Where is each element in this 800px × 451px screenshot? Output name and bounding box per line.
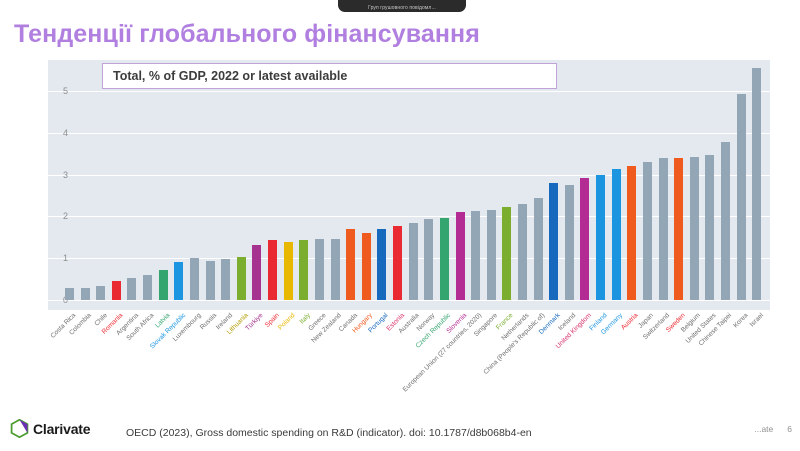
chart-bar bbox=[721, 142, 730, 300]
chart-bar bbox=[331, 239, 340, 300]
meeting-toolbar-overlay[interactable]: Груп грушовного повідомл... bbox=[338, 0, 466, 12]
chart-bars bbox=[48, 60, 770, 310]
chart-bar bbox=[299, 240, 308, 300]
chart-bar bbox=[409, 223, 418, 300]
chart-bar bbox=[565, 185, 574, 300]
chart-bar bbox=[612, 169, 621, 300]
chart-x-tick-label: Korea bbox=[732, 312, 749, 329]
chart-bar bbox=[112, 281, 121, 300]
chart-bar bbox=[518, 204, 527, 300]
chart-bar bbox=[221, 259, 230, 300]
chart-bar bbox=[377, 229, 386, 300]
chart-bar bbox=[315, 239, 324, 300]
chart-bar bbox=[471, 211, 480, 300]
chart-bar bbox=[237, 257, 246, 300]
chart-bar bbox=[580, 178, 589, 300]
brand-logo: Clarivate bbox=[10, 419, 90, 438]
page-number: 6 bbox=[787, 424, 792, 434]
chart-bar bbox=[737, 94, 746, 300]
chart-bar bbox=[487, 210, 496, 300]
meeting-toolbar-label: Груп грушовного повідомл... bbox=[368, 5, 436, 12]
chart-bar bbox=[549, 183, 558, 300]
chart-bar bbox=[643, 162, 652, 300]
chart-bar bbox=[268, 240, 277, 300]
chart-bar bbox=[346, 229, 355, 300]
chart-bar bbox=[206, 261, 215, 300]
page-title: Тенденції глобального фінансування bbox=[14, 20, 480, 49]
source-citation: OECD (2023), Gross domestic spending on … bbox=[126, 427, 532, 439]
chart-bar bbox=[362, 233, 371, 300]
chart-bar bbox=[252, 245, 261, 300]
chart-caption-box: Total, % of GDP, 2022 or latest availabl… bbox=[102, 63, 557, 89]
chart-bar bbox=[705, 155, 714, 300]
chart-bar bbox=[190, 258, 199, 300]
chart-bar bbox=[440, 218, 449, 300]
chart-bar bbox=[627, 166, 636, 300]
chart-bar bbox=[127, 278, 136, 300]
chart-bar bbox=[96, 286, 105, 300]
chart-caption-label: Total, % of GDP, 2022 or latest availabl… bbox=[113, 69, 347, 83]
footer-brand-truncated: ...ate bbox=[754, 424, 773, 434]
chart-x-axis-labels: Costa RicaColombiaChileRomaniaArgentinaS… bbox=[48, 310, 770, 405]
brand-name: Clarivate bbox=[33, 421, 90, 437]
chart-bar bbox=[81, 288, 90, 300]
chart-bar bbox=[65, 288, 74, 300]
chart-bar bbox=[534, 198, 543, 300]
chart-x-tick-label: Israel bbox=[748, 312, 764, 328]
chart-bar bbox=[502, 207, 511, 300]
chart-panel: 012345 Total, % of GDP, 2022 or latest a… bbox=[48, 60, 770, 310]
chart-bar bbox=[659, 158, 668, 300]
chart-bar bbox=[393, 226, 402, 300]
chart-bar bbox=[159, 270, 168, 300]
footer-meta: ...ate 6 bbox=[754, 424, 792, 434]
chart-bar bbox=[596, 175, 605, 300]
chart-bar bbox=[752, 68, 761, 300]
chart-x-tick-label: Austria bbox=[620, 312, 639, 331]
clarivate-logo-icon bbox=[10, 419, 29, 438]
chart-bar bbox=[284, 242, 293, 300]
chart-bar bbox=[143, 275, 152, 300]
chart-bar bbox=[456, 212, 465, 300]
chart-bar bbox=[674, 158, 683, 300]
chart-bar bbox=[424, 219, 433, 300]
chart-bar bbox=[174, 262, 183, 300]
chart-bar bbox=[690, 157, 699, 300]
